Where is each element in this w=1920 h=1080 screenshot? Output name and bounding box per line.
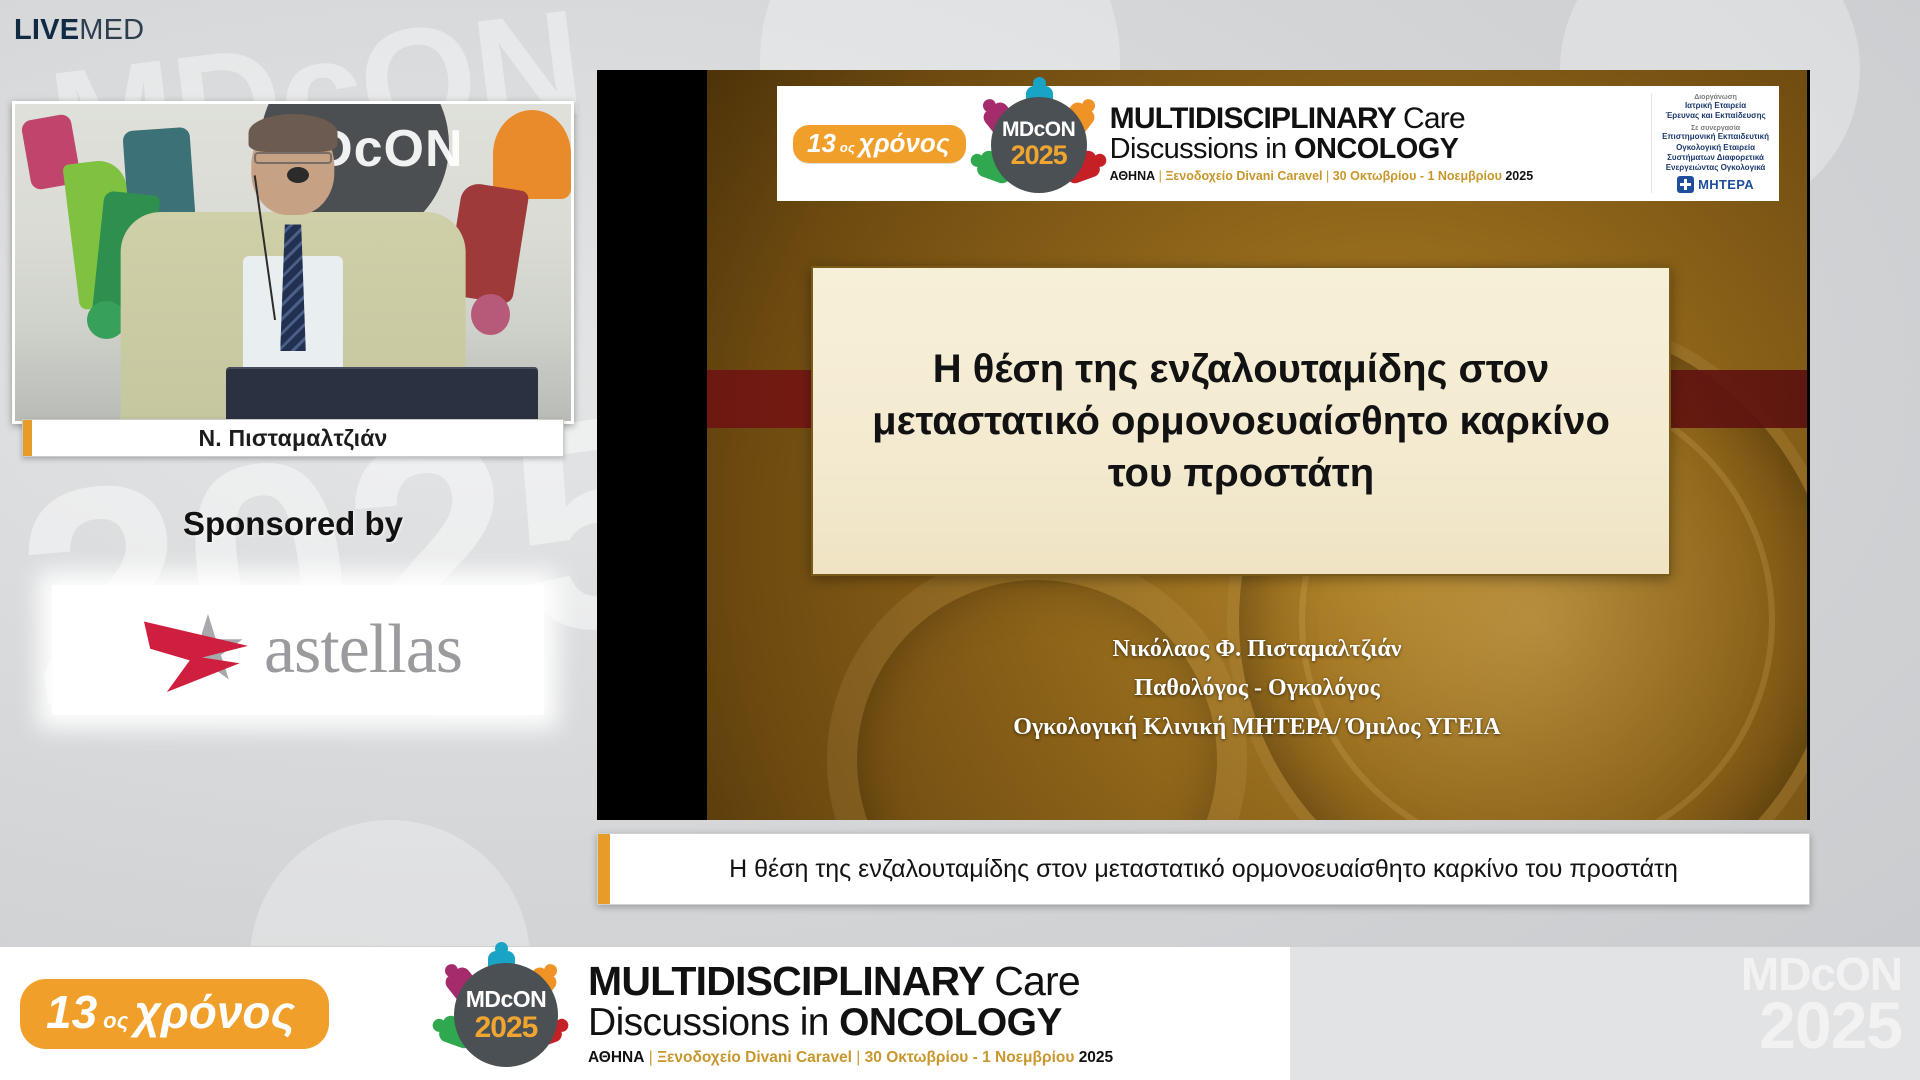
footer-watermark: MDcON 2025 (1741, 953, 1902, 1056)
mdcon-badge-line2: 2025 (1011, 140, 1067, 171)
slide-title-card: Η θέση της ενζαλουταμίδης στον μεταστατι… (811, 266, 1671, 576)
footer-watermark-line2: 2025 (1741, 995, 1902, 1056)
venue-hotel: Ξενοδοχείο Divani Caravel (1165, 169, 1322, 183)
speaker-name-banner: Ν. Πισταμαλτζιάν (22, 419, 564, 457)
footer-title-line1: MULTIDISCIPLINARY Care (588, 961, 1290, 1003)
swoosh-shape (144, 620, 248, 692)
conference-title-block: MULTIDISCIPLINARY Care Discussions in ON… (1110, 104, 1643, 182)
footer-title-line2: Discussions in ONCOLOGY (588, 1003, 1290, 1043)
livemed-logo[interactable]: LIVEMED (14, 14, 144, 47)
session-title-text: Η θέση της ενζαλουταμίδης στον μεταστατι… (598, 855, 1809, 884)
speaker-name-label: Ν. Πισταμαλτζιάν (198, 425, 387, 452)
footer-watermark-panel: MDcON 2025 (1290, 947, 1920, 1080)
conference-venue-line: ΑΘΗΝΑ | Ξενοδοχείο Divani Caravel | 30 Ο… (1110, 169, 1643, 183)
sponsor-logo: astellas (52, 585, 544, 715)
footer-mdcon-badge-icon: MDcON 2025 (442, 953, 570, 1075)
venue-dates: 30 Οκτωβρίου - 1 Νοεμβρίου (1333, 169, 1502, 183)
slide-author-name: Νικόλαος Φ. Πισταμαλτζιάν (707, 630, 1807, 669)
footer-branding-panel: MDcON 2025 MULTIDISCIPLINARY Care Discus… (410, 947, 1290, 1080)
video-backdrop: MDcON (15, 104, 571, 421)
livemed-logo-med: MED (79, 14, 144, 46)
footer-venue-city: ΑΘΗΝΑ (588, 1049, 644, 1066)
footer-title-oncology: ONCOLOGY (839, 1001, 1062, 1044)
session-title-bar: Η θέση της ενζαλουταμίδης στον μεταστατι… (597, 833, 1810, 905)
footer-venue-dates: 30 Οκτωβρίου - 1 Νοεμβρίου (865, 1049, 1075, 1066)
bottom-banner: 13ος χρόνος MDcON 2025 MULTIDISCIPLINARY… (0, 946, 1920, 1080)
conference-title-discussions: Discussions in (1110, 133, 1287, 165)
footer-mdcon-badge-disc: MDcON 2025 (454, 963, 558, 1067)
podium (226, 367, 537, 421)
slide-author-affiliation: Ογκολογική Κλινική ΜΗΤΕΡΑ/ Όμιλος ΥΓΕΙΑ (707, 708, 1807, 747)
slide-author-specialty: Παθολόγος - Ογκολόγος (707, 669, 1807, 708)
footer-badge-line1: MDcON (466, 986, 547, 1013)
conference-title-oncology: ONCOLOGY (1294, 133, 1458, 165)
organizer-name-2: Επιστημονική Εκπαιδευτική Ογκολογική Ετα… (1662, 132, 1769, 173)
conference-title-line2: Discussions in ONCOLOGY (1110, 135, 1643, 165)
slide-header-branding: 13ος χρόνος MDcON 2025 MULTIDISCIPLINARY… (777, 86, 1779, 201)
slide-year-number: 13 (807, 130, 836, 156)
slide-year-sup: ος (840, 141, 855, 154)
footer-badge-line2: 2025 (475, 1011, 538, 1045)
conference-title-multidisciplinary: MULTIDISCIPLINARY (1110, 102, 1396, 135)
footer-title-discussions: Discussions in (588, 1001, 829, 1044)
organizer-name-1: Ιατρική Εταιρεία Έρευνας και Εκπαίδευσης (1662, 101, 1769, 121)
slide-canvas: 13ος χρόνος MDcON 2025 MULTIDISCIPLINARY… (707, 70, 1807, 820)
astellas-star-icon (144, 602, 262, 698)
organizers-block: Διοργάνωση Ιατρική Εταιρεία Έρευνας και … (1651, 94, 1769, 193)
footer-title-multidisciplinary: MULTIDISCIPLINARY (588, 958, 984, 1004)
venue-city: ΑΘΗΝΑ (1110, 169, 1156, 183)
footer-conference-title-block: MULTIDISCIPLINARY Care Discussions in ON… (588, 961, 1290, 1067)
livemed-logo-live: LIVE (14, 14, 79, 46)
speaker-video[interactable]: MDcON (12, 101, 574, 424)
footer-venue-line: ΑΘΗΝΑ | Ξενοδοχείο Divani Caravel | 30 Ο… (588, 1049, 1290, 1067)
mitera-label: ΜΗΤΕΡΑ (1698, 177, 1754, 192)
medical-cross-icon (1677, 176, 1694, 193)
footer-title-care: Care (994, 958, 1080, 1004)
speaker-hair (249, 114, 338, 152)
mdcon-badge-line1: MDcON (1002, 118, 1075, 142)
astellas-logo: astellas (134, 602, 462, 698)
presentation-slide[interactable]: 13ος χρόνος MDcON 2025 MULTIDISCIPLINARY… (597, 70, 1810, 820)
footer-year-panel: 13ος χρόνος (0, 947, 410, 1080)
mdcon-badge-icon: MDcON 2025 (980, 88, 1098, 200)
footer-venue-hotel: Ξενοδοχείο Divani Caravel (657, 1049, 852, 1066)
slide-year-word: χρόνος (859, 130, 950, 156)
footer-year-chip: 13ος χρόνος (20, 979, 329, 1049)
speaker-glasses (254, 152, 332, 165)
footer-year-word: χρόνος (134, 989, 295, 1035)
backdrop-shape-pink (471, 294, 510, 335)
organizer-label-1: Διοργάνωση (1662, 94, 1769, 101)
mitera-partner-logo: ΜΗΤΕΡΑ (1662, 176, 1769, 193)
slide-year-chip: 13ος χρόνος (793, 125, 966, 163)
conference-title-line1: MULTIDISCIPLINARY Care (1110, 104, 1643, 135)
backdrop-shape-orange (493, 110, 571, 199)
organizer-label-2: Σε συνεργασία (1662, 125, 1769, 132)
venue-dates-year: 2025 (1505, 169, 1533, 183)
slide-title-text: Η θέση της ενζαλουταμίδης στον μεταστατι… (813, 343, 1669, 499)
slide-author-block: Νικόλαος Φ. Πισταμαλτζιάν Παθολόγος - Ογ… (707, 630, 1807, 747)
mdcon-badge-disc: MDcON 2025 (991, 97, 1087, 193)
footer-year-sup: ος (103, 1010, 128, 1032)
footer-year-number: 13 (46, 989, 97, 1035)
sponsored-by-heading: Sponsored by (0, 505, 586, 543)
conference-title-care: Care (1403, 102, 1465, 135)
top-bar: LIVEMED (0, 0, 1920, 62)
footer-venue-dates-year: 2025 (1079, 1049, 1113, 1066)
astellas-wordmark: astellas (264, 615, 462, 685)
